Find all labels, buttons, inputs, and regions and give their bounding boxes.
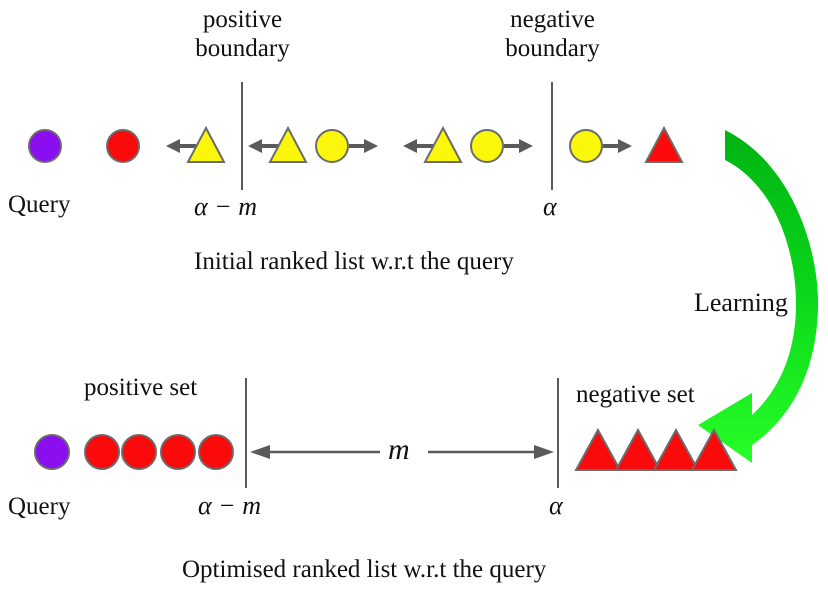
bottom-caption: Optimised ranked list w.r.t the query [182,556,546,585]
negative-sample [576,430,620,470]
top-query-label: Query [8,191,70,220]
circle-marker [570,130,602,162]
negative-boundary-label: negative boundary [485,6,620,64]
bottom-axis-label-alpha: α [549,491,563,521]
negative-boundary-label-line2: boundary [485,35,620,64]
positive-sample [85,435,119,469]
uncertain-positive-moving-right [471,130,533,162]
positive-boundary-label: positive boundary [175,6,310,64]
negative-sample [646,128,682,162]
negative-boundary-label-line1: negative [485,6,620,35]
positive-boundary-label-line1: positive [175,6,310,35]
bottom-axis-label-alpha-minus-m: α − m [198,491,261,521]
top-caption: Initial ranked list w.r.t the query [194,248,514,277]
negative-set-label: negative set [576,381,695,410]
positive-sample [199,435,233,469]
uncertain-positive-moving-right [316,130,378,162]
top-axis-label-alpha-minus-m: α − m [194,192,257,222]
positive-sample [107,130,139,162]
bottom-query-label: Query [8,493,70,522]
top-axis-label-alpha: α [543,192,557,222]
learning-label: Learning [694,288,788,318]
circle-marker [471,130,503,162]
positive-sample [161,435,195,469]
figure-canvas: positive boundary negative boundary α − … [0,0,828,600]
query-marker [29,130,61,162]
query-marker [35,435,69,469]
uncertain-positive-moving-right [570,130,632,162]
positive-set-label: positive set [84,374,197,403]
margin-label: m [388,433,410,468]
top-row-markers [0,118,700,178]
uncertain-negative-moving-left [166,128,224,162]
uncertain-negative-moving-left [248,128,306,162]
bottom-row-markers [0,420,760,480]
positive-sample [122,435,156,469]
positive-boundary-label-line2: boundary [175,35,310,64]
negative-sample [692,430,736,470]
uncertain-negative-moving-left [403,128,461,162]
negative-sample [616,430,660,470]
circle-marker [316,130,348,162]
negative-sample [654,430,698,470]
